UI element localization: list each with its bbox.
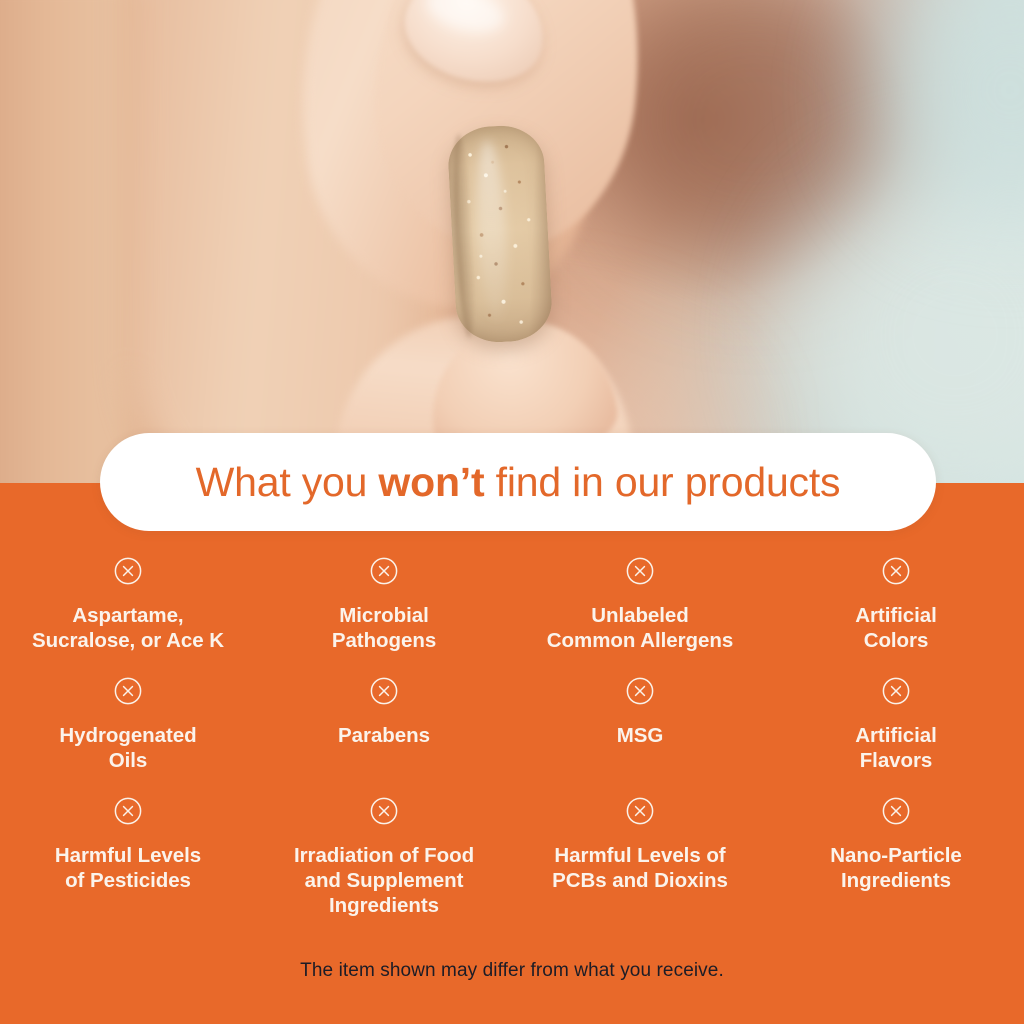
infographic-canvas: What you won’t find in our products Aspa… — [0, 0, 1024, 1024]
exclusion-label: Artificial Flavors — [855, 723, 937, 773]
circle-x-icon — [113, 556, 143, 586]
circle-x-icon — [369, 676, 399, 706]
exclusion-label: Irradiation of Food and Supplement Ingre… — [294, 843, 474, 918]
circle-x-icon — [881, 796, 911, 826]
exclusions-row: Aspartame, Sucralose, or Ace K Microbial… — [0, 556, 1024, 676]
exclusions-row: Hydrogenated Oils Parabens MSG — [0, 676, 1024, 796]
supplement-tablet — [446, 124, 553, 345]
product-photo — [0, 0, 1024, 483]
circle-x-icon — [625, 796, 655, 826]
exclusion-label: Aspartame, Sucralose, or Ace K — [32, 603, 224, 653]
circle-x-icon — [625, 556, 655, 586]
exclusion-label: Unlabeled Common Allergens — [547, 603, 733, 653]
exclusion-label: Microbial Pathogens — [332, 603, 436, 653]
exclusion-item: Parabens — [256, 676, 512, 796]
exclusion-item: Irradiation of Food and Supplement Ingre… — [256, 796, 512, 931]
exclusion-item: Hydrogenated Oils — [0, 676, 256, 796]
exclusion-item: Artificial Flavors — [768, 676, 1024, 796]
circle-x-icon — [369, 796, 399, 826]
circle-x-icon — [369, 556, 399, 586]
page-title: What you won’t find in our products — [196, 459, 841, 506]
title-part-2: find in our products — [484, 459, 840, 505]
exclusions-grid: Aspartame, Sucralose, or Ace K Microbial… — [0, 556, 1024, 931]
circle-x-icon — [113, 796, 143, 826]
exclusion-item: Artificial Colors — [768, 556, 1024, 676]
title-banner: What you won’t find in our products — [100, 433, 936, 531]
exclusion-item: Aspartame, Sucralose, or Ace K — [0, 556, 256, 676]
footer: The item shown may differ from what you … — [0, 960, 1024, 982]
exclusions-row: Harmful Levels of Pesticides Irradiation… — [0, 796, 1024, 931]
disclaimer-text: The item shown may differ from what you … — [0, 960, 1024, 982]
circle-x-icon — [881, 676, 911, 706]
exclusion-label: Artificial Colors — [855, 603, 937, 653]
exclusion-label: Parabens — [338, 723, 430, 748]
circle-x-icon — [881, 556, 911, 586]
exclusion-label: Harmful Levels of PCBs and Dioxins — [552, 843, 728, 893]
exclusion-item: Harmful Levels of PCBs and Dioxins — [512, 796, 768, 931]
circle-x-icon — [113, 676, 143, 706]
exclusion-item: Harmful Levels of Pesticides — [0, 796, 256, 931]
exclusion-label: Hydrogenated Oils — [59, 723, 196, 773]
title-emphasis: won’t — [378, 459, 484, 505]
exclusion-label: Nano-Particle Ingredients — [830, 843, 962, 893]
exclusion-label: MSG — [617, 723, 664, 748]
exclusion-item: MSG — [512, 676, 768, 796]
exclusion-item: Nano-Particle Ingredients — [768, 796, 1024, 931]
title-part-1: What you — [196, 459, 379, 505]
exclusion-item: Microbial Pathogens — [256, 556, 512, 676]
circle-x-icon — [625, 676, 655, 706]
exclusion-label: Harmful Levels of Pesticides — [55, 843, 201, 893]
exclusion-item: Unlabeled Common Allergens — [512, 556, 768, 676]
